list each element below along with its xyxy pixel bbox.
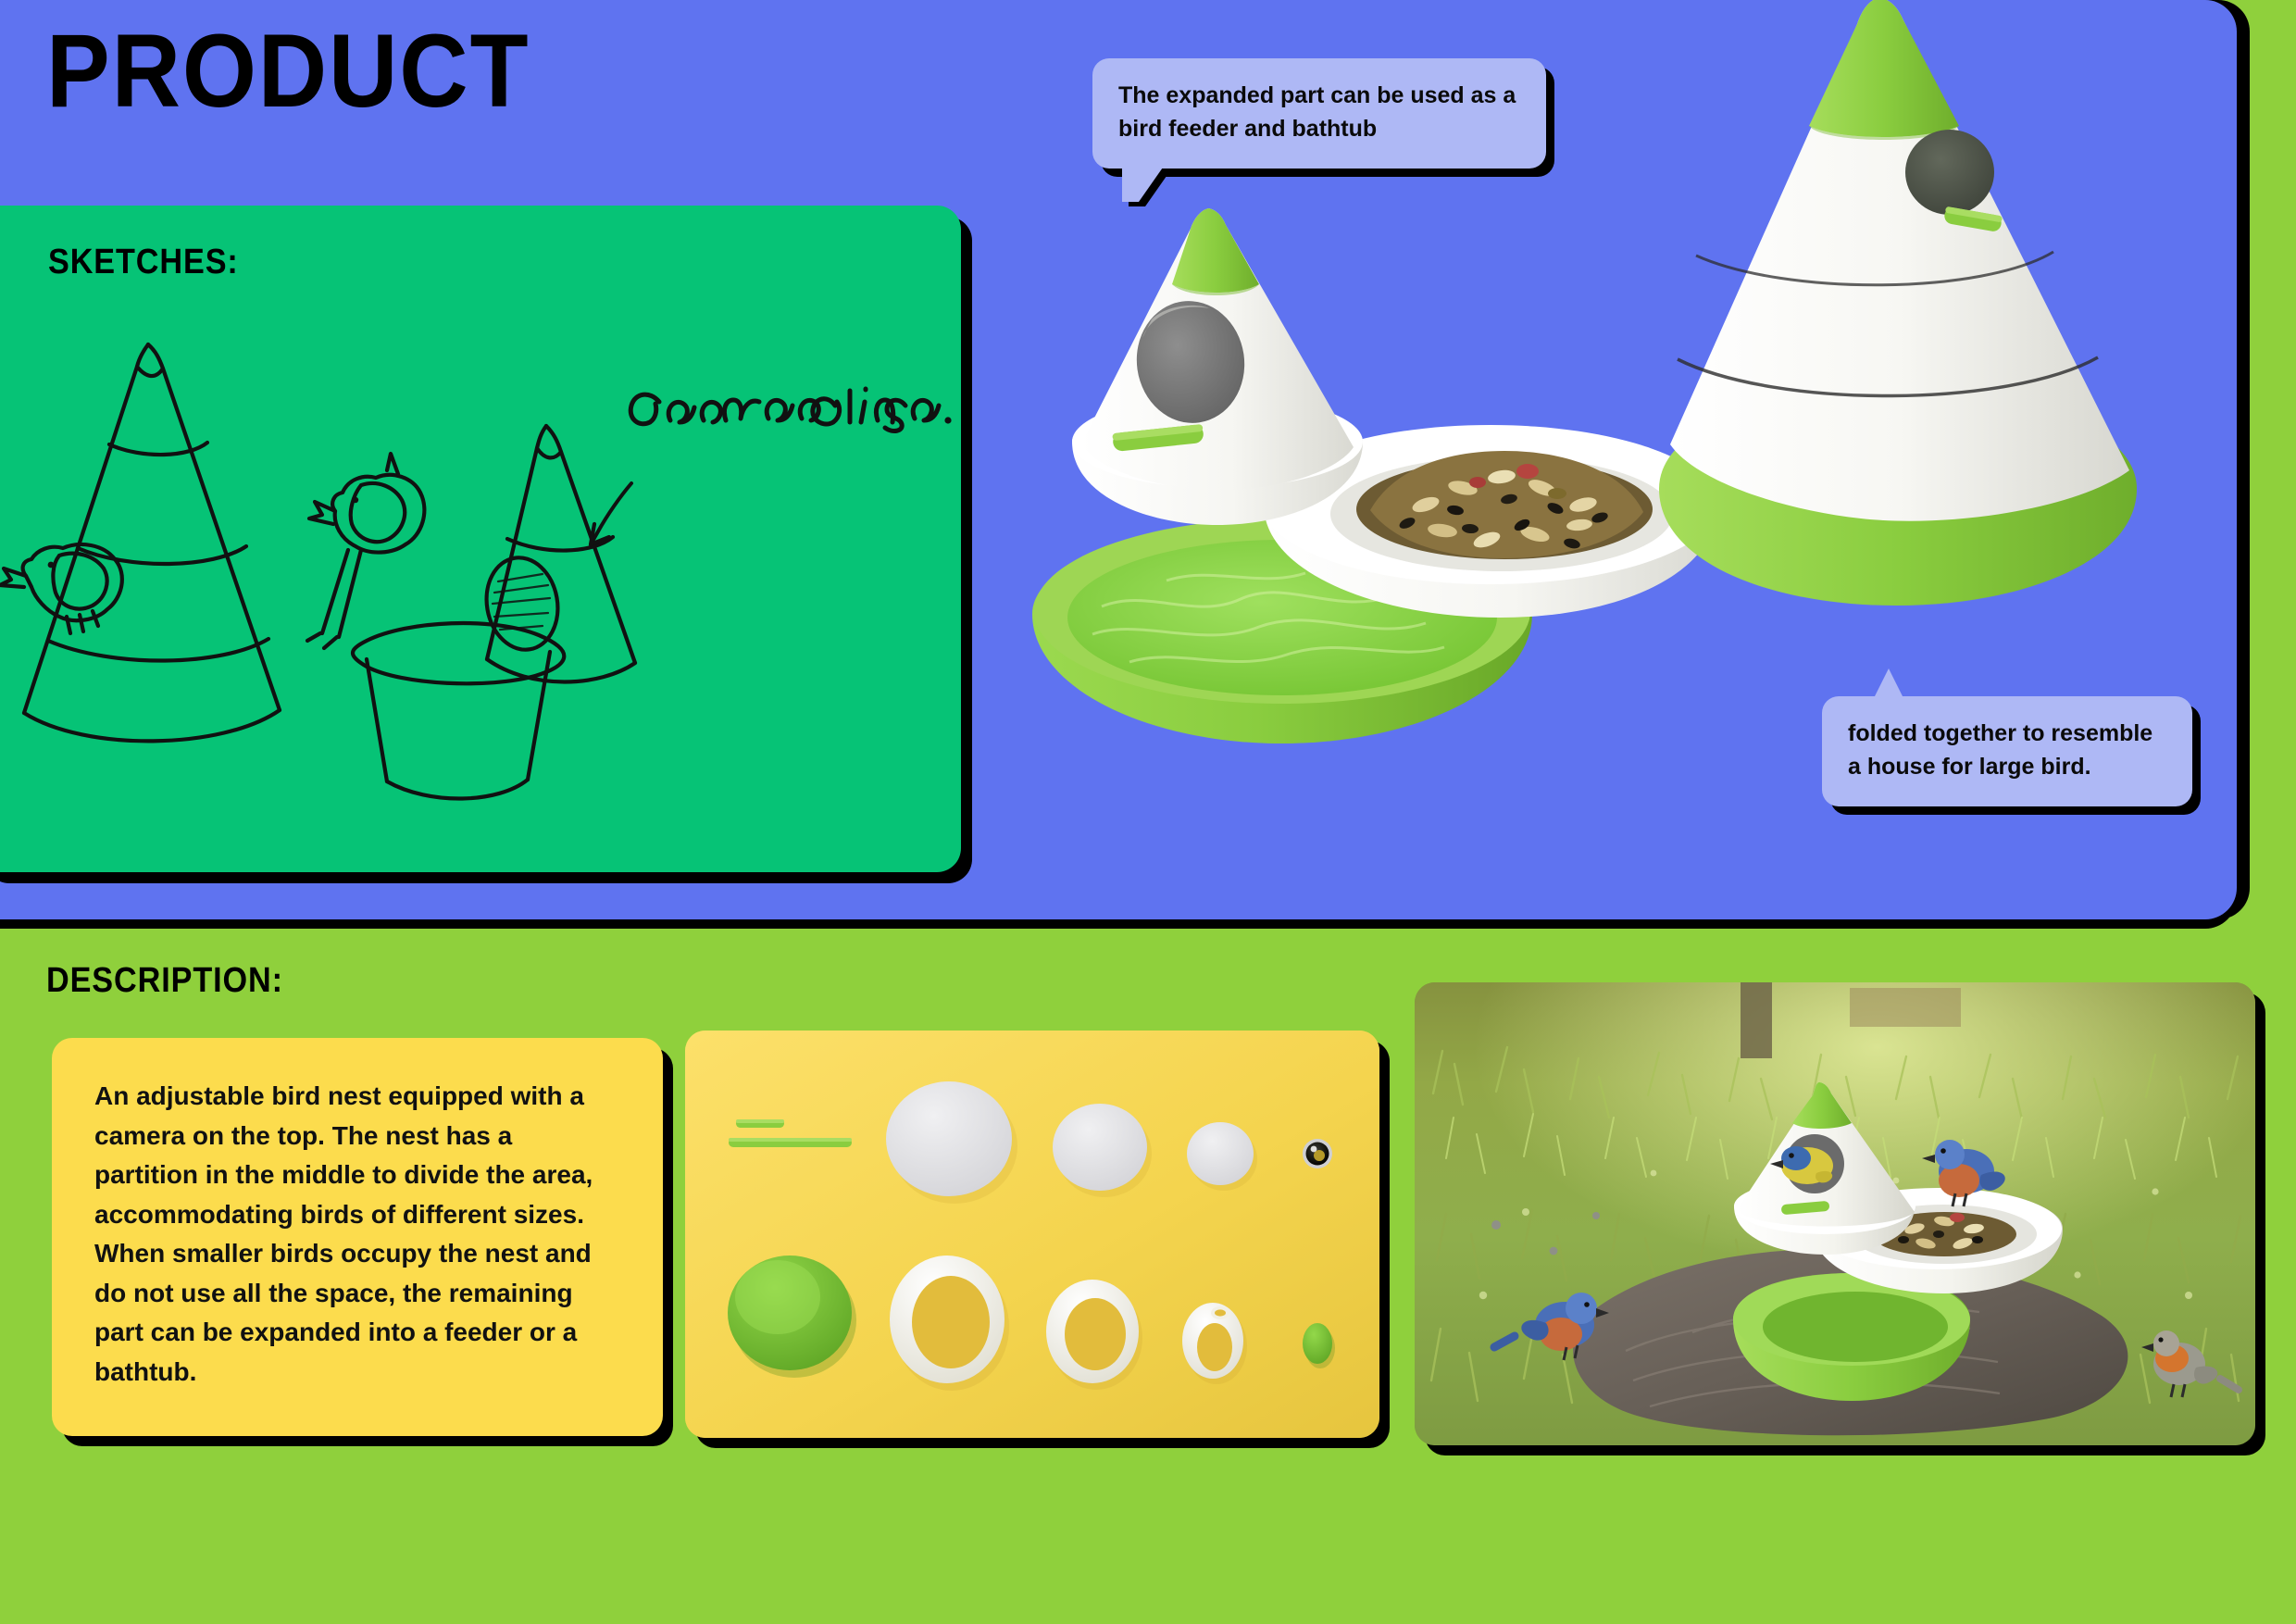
callout-folded-house-line2: a house for large bird.: [1848, 750, 2168, 783]
page-title: PRODUCT: [46, 17, 530, 126]
camera-lens: [1303, 1139, 1332, 1168]
expanded-bird-nest-render: [1028, 199, 1731, 773]
callout-folded-house: folded together to resemble a house for …: [1822, 696, 2192, 806]
description-text: An adjustable bird nest equipped with a …: [52, 1038, 663, 1392]
partition-board-small: [1187, 1122, 1254, 1185]
components-diagram: [685, 1031, 1379, 1438]
description-section: DESCRIPTION: An adjustable bird nest equ…: [0, 929, 2296, 1624]
rendered-photo: [1415, 982, 2255, 1445]
bubble-tail-icon: [1122, 165, 1165, 202]
cone-top-assembly: [1072, 208, 1363, 525]
rendered-photo-card: [1415, 982, 2255, 1445]
product-top-panel: PRODUCT SKETCHES:: [0, 0, 2237, 919]
sketches-drawing: [0, 206, 961, 872]
sketches-card: SKETCHES:: [0, 206, 961, 872]
components-card: [685, 1031, 1379, 1438]
partition-board-large: [886, 1081, 1012, 1196]
callout-folded-house-line1: folded together to resemble: [1848, 717, 2168, 750]
partition-board-medium: [1053, 1104, 1147, 1191]
callout-feeder-bathtub-text: The expanded part can be used as a bird …: [1118, 82, 1516, 142]
description-label: DESCRIPTION:: [46, 961, 283, 1001]
callout-feeder-bathtub: The expanded part can be used as a bird …: [1092, 58, 1546, 169]
bubble-tail-icon: [1874, 668, 1903, 698]
folded-bird-house-render: [1639, 0, 2176, 639]
description-card: An adjustable bird nest equipped with a …: [52, 1038, 663, 1436]
